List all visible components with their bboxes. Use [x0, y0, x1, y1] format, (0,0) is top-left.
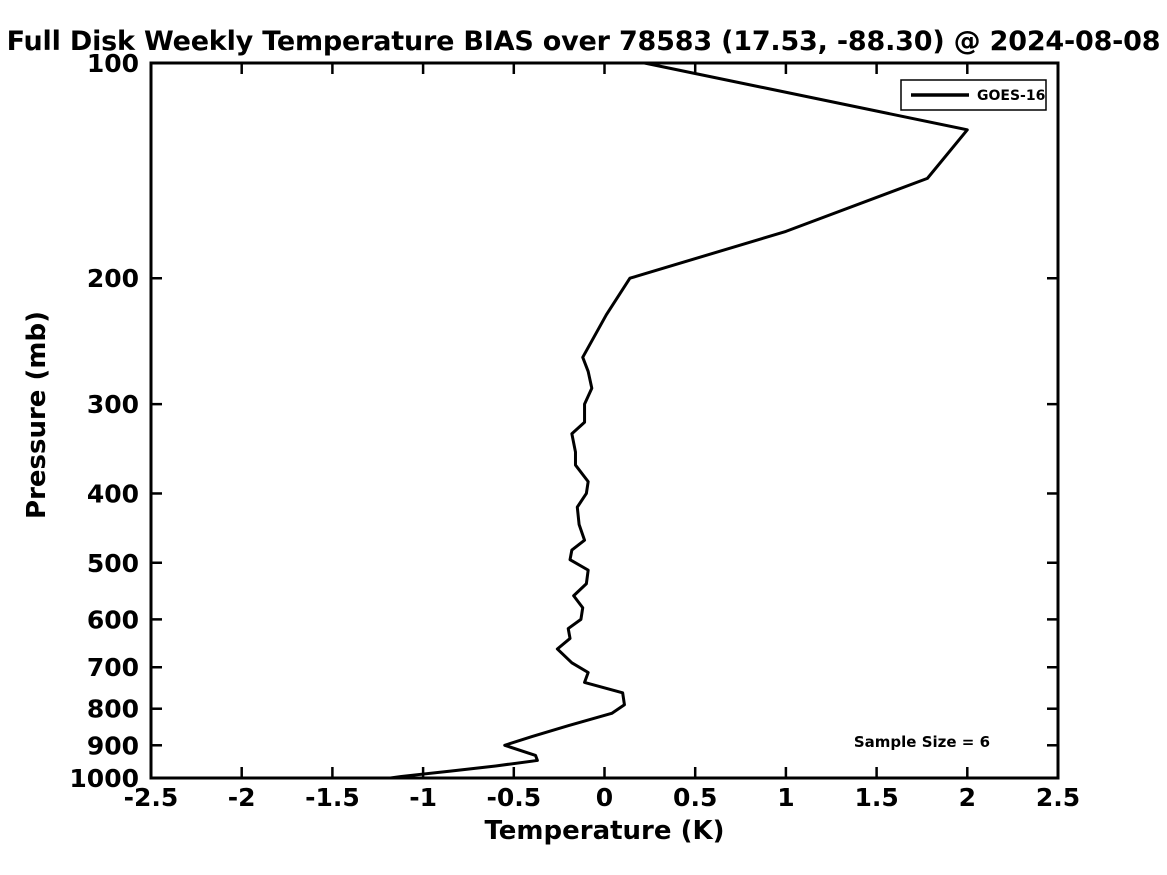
chart-legend[interactable]: GOES-16 [901, 80, 1046, 110]
y-tick-label: 400 [87, 479, 139, 508]
x-tick-label: 1.5 [854, 783, 898, 812]
x-tick-label: -1.5 [305, 783, 360, 812]
y-tick-label: 900 [87, 731, 139, 760]
x-tick-label: -0.5 [486, 783, 541, 812]
plot-canvas: -2.5-2-1.5-1-0.500.511.522.5100200300400… [0, 0, 1167, 875]
x-tick-label: 0 [596, 783, 613, 812]
x-tick-label: 2 [959, 783, 976, 812]
x-tick-label: 1 [777, 783, 794, 812]
y-tick-label: 700 [87, 653, 139, 682]
y-tick-label: 800 [87, 695, 139, 724]
y-tick-label: 1000 [69, 764, 139, 793]
y-tick-label: 500 [87, 549, 139, 578]
legend-label: GOES-16 [977, 88, 1045, 104]
y-tick-label: 600 [87, 605, 139, 634]
x-tick-label: -1 [409, 783, 437, 812]
series-line-goes-16 [390, 63, 967, 778]
x-tick-label: 2.5 [1036, 783, 1080, 812]
data-series-group [390, 63, 967, 778]
x-tick-label: 0.5 [673, 783, 717, 812]
x-tick-label: -2 [228, 783, 256, 812]
y-tick-label: 300 [87, 390, 139, 419]
annotation-group: Sample Size = 6 [854, 733, 990, 751]
sample-size-annotation: Sample Size = 6 [854, 733, 990, 751]
y-tick-label: 200 [87, 264, 139, 293]
chart-figure: Full Disk Weekly Temperature BIAS over 7… [0, 0, 1167, 875]
y-tick-label: 100 [87, 49, 139, 78]
